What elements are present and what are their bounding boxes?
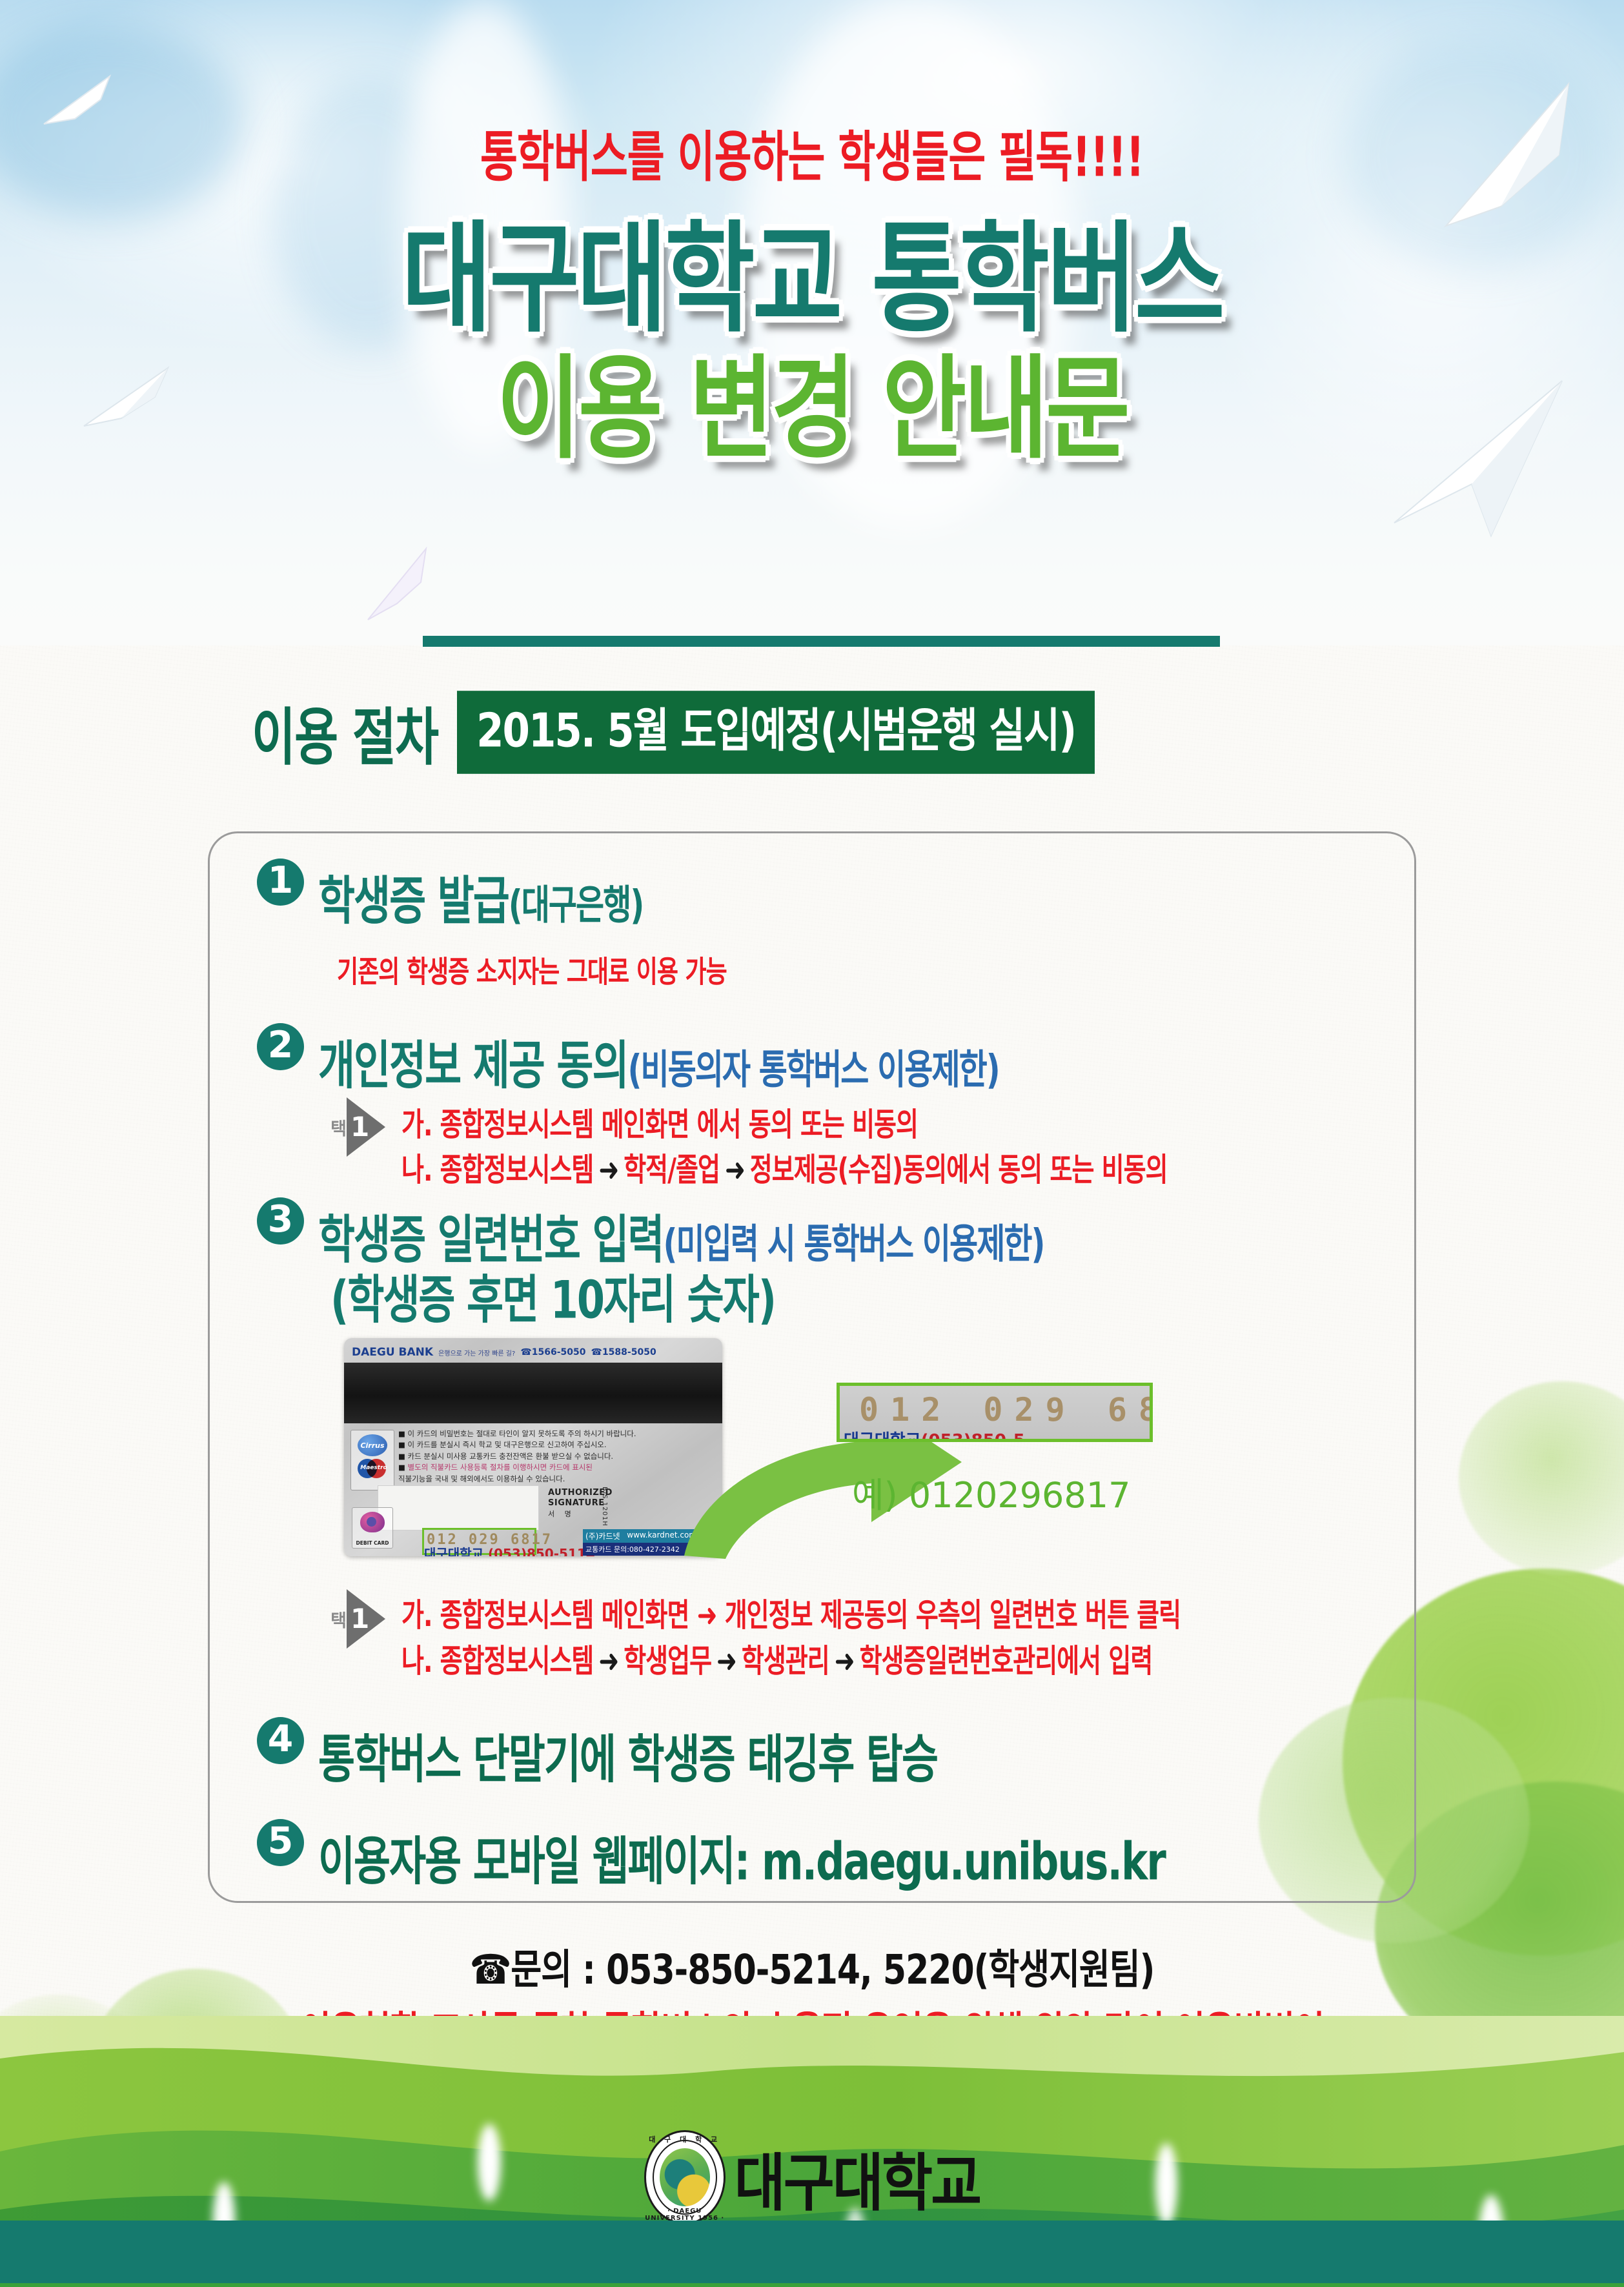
step-3-sub-b-part-2: 학생관리: [742, 1643, 829, 1680]
card-signature-panel: [378, 1485, 539, 1530]
step-3-sub-a: 가. 종합정보시스템 메인화면 ➜ 개인정보 제공동의 우측의 일련번호 버튼 …: [401, 1589, 1181, 1636]
serial-zoom-tel: (053)850-5: [921, 1431, 1025, 1442]
serial-zoom-school: 대구대학교: [844, 1431, 921, 1442]
step-2-main-text: 개인정보 제공 동의: [318, 1035, 628, 1096]
card-bank-tel-1: ☎1566-5050: [520, 1347, 585, 1357]
step-1-paren: (대구은행): [509, 882, 644, 929]
step-4: 4 통학버스 단말기에 학생증 태깅후 탑승: [257, 1717, 937, 1775]
title-line-1: 대구대학교 통학버스: [0, 219, 1624, 339]
maestro-icon: Maestro: [358, 1459, 387, 1481]
emblem-top-text: 대 구 대 학 교: [644, 2134, 726, 2144]
step-3-pick-number: 1: [350, 1605, 369, 1632]
step-2-sub-b-part-0: 나. 종합정보시스템: [401, 1152, 593, 1188]
serial-zoom-underline-text: 대구대학교(053)850-5: [844, 1427, 1025, 1442]
arrow-right-icon: ➜: [711, 1643, 742, 1680]
step-4-title: 통학버스 단말기에 학생증 태깅후 탑승: [318, 1717, 937, 1793]
paper-plane-icon: [361, 542, 432, 626]
card-terms-text: ■ 이 카드의 비밀번호는 절대로 타인이 알지 못하도록 주의 하시기 바랍니…: [398, 1428, 702, 1485]
university-logo: 대 구 대 학 교 · DAEGU UNIVERSITY 1956 · 대구대학…: [0, 2130, 1624, 2224]
step-2-title: 개인정보 제공 동의(비동의자 통학버스 이용제한): [318, 1023, 999, 1099]
card-school-name: 대구대학교: [424, 1546, 483, 1556]
card-bank-header: DAEGU BANK 은행으로 가는 가장 빠른 길? ☎1566-5050 ☎…: [352, 1344, 716, 1361]
university-name: 대구대학교: [735, 2132, 980, 2222]
step-3-sub-b-part-0: 나. 종합정보시스템: [401, 1643, 593, 1680]
step-3-sub-b-part-1: 학생업무: [624, 1643, 711, 1680]
step-2: 2 개인정보 제공 동의(비동의자 통학버스 이용제한): [257, 1023, 999, 1081]
step-2-sub-a: 가. 종합정보시스템 메인화면 에서 동의 또는 비동의: [401, 1099, 918, 1145]
debit-card-label: DEBIT CARD: [352, 1540, 392, 1546]
step-2-pick-one-marker: 택 1: [328, 1097, 385, 1157]
card-term-2: ■ 카드 분실시 미사용 교통카드 충전잔액은 환불 받으실 수 없습니다.: [398, 1451, 702, 1462]
card-kardnet-name: (주)카드넷: [585, 1530, 620, 1541]
card-signature-kr: 서 명: [548, 1510, 575, 1518]
card-school-line: 대구대학교 (053)850-5114: [424, 1543, 595, 1556]
step-3-number: 3: [257, 1197, 304, 1245]
section-header: 이용 절차 2015. 5월 도입예정(시범운행 실시): [252, 697, 1095, 767]
serial-zoom-callout: 012 029 6817 대구대학교(053)850-5: [837, 1383, 1153, 1442]
step-3-subtitle: (학생증 후면 10자리 숫자): [330, 1257, 775, 1333]
step-1: 1 학생증 발급(대구은행): [257, 859, 643, 917]
step-3-sub-b-part-3: 학생증일련번호관리에서 입력: [860, 1643, 1153, 1680]
emblem-bottom-text: · DAEGU UNIVERSITY 1956 ·: [644, 2208, 726, 2222]
card-term-0: ■ 이 카드의 비밀번호는 절대로 타인이 알지 못하도록 주의 하시기 바랍니…: [398, 1428, 702, 1439]
card-term-3: ■ 별도의 직불카드 사용등록 절차를 이행하시면 카드에 표시된: [398, 1462, 702, 1473]
debit-swirl-icon: [360, 1512, 385, 1532]
step-5: 5 이용자용 모바일 웹페이지: m.daegu.unibus.kr: [257, 1819, 1165, 1877]
card-network-logos: Cirrus Maestro: [350, 1430, 394, 1490]
debit-card-logo: DEBIT CARD: [352, 1507, 393, 1549]
card-bank-brand: DAEGU BANK: [352, 1346, 433, 1359]
title-line-2: 이용 변경 안내문: [0, 354, 1624, 465]
section-title: 이용 절차: [252, 687, 438, 777]
poster-root: 통학버스를 이용하는 학생들은 필독!!!! 대구대학교 통학버스 이용 변경 …: [0, 0, 1624, 2287]
serial-example-text: 예) 0120296817: [852, 1467, 1130, 1518]
arrow-right-icon: ➜: [720, 1152, 750, 1188]
step-1-title: 학생증 발급(대구은행): [318, 859, 643, 934]
step-1-note: 기존의 학생증 소지자는 그대로 이용 가능: [337, 948, 727, 991]
step-2-pick-number: 1: [350, 1113, 369, 1141]
step-5-title: 이용자용 모바일 웹페이지: m.daegu.unibus.kr: [318, 1819, 1165, 1895]
step-2-sub-b-part-2: 정보제공(수집)동의에서 동의 또는 비동의: [750, 1152, 1168, 1188]
card-school-tel: (053)850-5114: [483, 1546, 595, 1556]
step-2-number: 2: [257, 1023, 304, 1070]
footer-bar-edge: [0, 2283, 1624, 2287]
card-bank-tel-2: ☎1588-5050: [591, 1347, 656, 1357]
step-2-pick-label: 택: [328, 1119, 345, 1135]
title-divider: [423, 636, 1220, 647]
serial-zoom-number: 012 029 6817: [859, 1391, 1153, 1428]
arrow-right-icon: ➜: [593, 1152, 624, 1188]
card-term-4: 직불기능을 국내 및 해외에서도 이용하실 수 있습니다.: [398, 1474, 702, 1485]
step-2-paren: (비동의자 통학버스 이용제한): [628, 1046, 999, 1093]
arrow-right-icon: ➜: [829, 1643, 860, 1680]
step-2-sub-b: 나. 종합정보시스템➜학적/졸업➜정보제공(수집)동의에서 동의 또는 비동의: [401, 1144, 1168, 1190]
step-4-number: 4: [257, 1717, 304, 1764]
triangle-icon: 1: [347, 1097, 385, 1157]
step-3-pick-label: 택: [328, 1611, 345, 1627]
card-vertical-code: B/S 1201H: [601, 1487, 608, 1527]
step-3-sub-b: 나. 종합정보시스템➜학생업무➜학생관리➜학생증일련번호관리에서 입력: [401, 1635, 1152, 1682]
poster-title: 대구대학교 통학버스 이용 변경 안내문: [0, 219, 1624, 445]
footer-bar: [0, 2221, 1624, 2287]
step-1-number: 1: [257, 859, 304, 906]
step-2-sub-b-part-1: 학적/졸업: [624, 1152, 720, 1188]
step-3-pick-one-marker: 택 1: [328, 1589, 385, 1649]
step-3: 3 학생증 일련번호 입력(미입력 시 통학버스 이용제한): [257, 1197, 1044, 1255]
kicker-text: 통학버스를 이용하는 학생들은 필독!!!!: [0, 114, 1624, 192]
step-1-main-text: 학생증 발급: [318, 870, 509, 931]
triangle-icon: 1: [347, 1589, 385, 1649]
section-date-badge: 2015. 5월 도입예정(시범운행 실시): [457, 691, 1095, 774]
contact-line: ☎문의 : 053-850-5214, 5220(학생지원팀): [0, 1936, 1624, 1996]
step-5-number: 5: [257, 1819, 304, 1866]
maestro-label: Maestro: [360, 1465, 387, 1471]
card-bank-slogan: 은행으로 가는 가장 빠른 길?: [438, 1348, 515, 1357]
arrow-right-icon: ➜: [593, 1643, 624, 1680]
university-emblem-icon: 대 구 대 학 교 · DAEGU UNIVERSITY 1956 ·: [644, 2130, 726, 2224]
card-term-1: ■ 이 카드를 분실시 즉시 학교 및 대구은행으로 신고하여 주십시오.: [398, 1439, 702, 1450]
cirrus-icon: Cirrus: [358, 1434, 387, 1456]
